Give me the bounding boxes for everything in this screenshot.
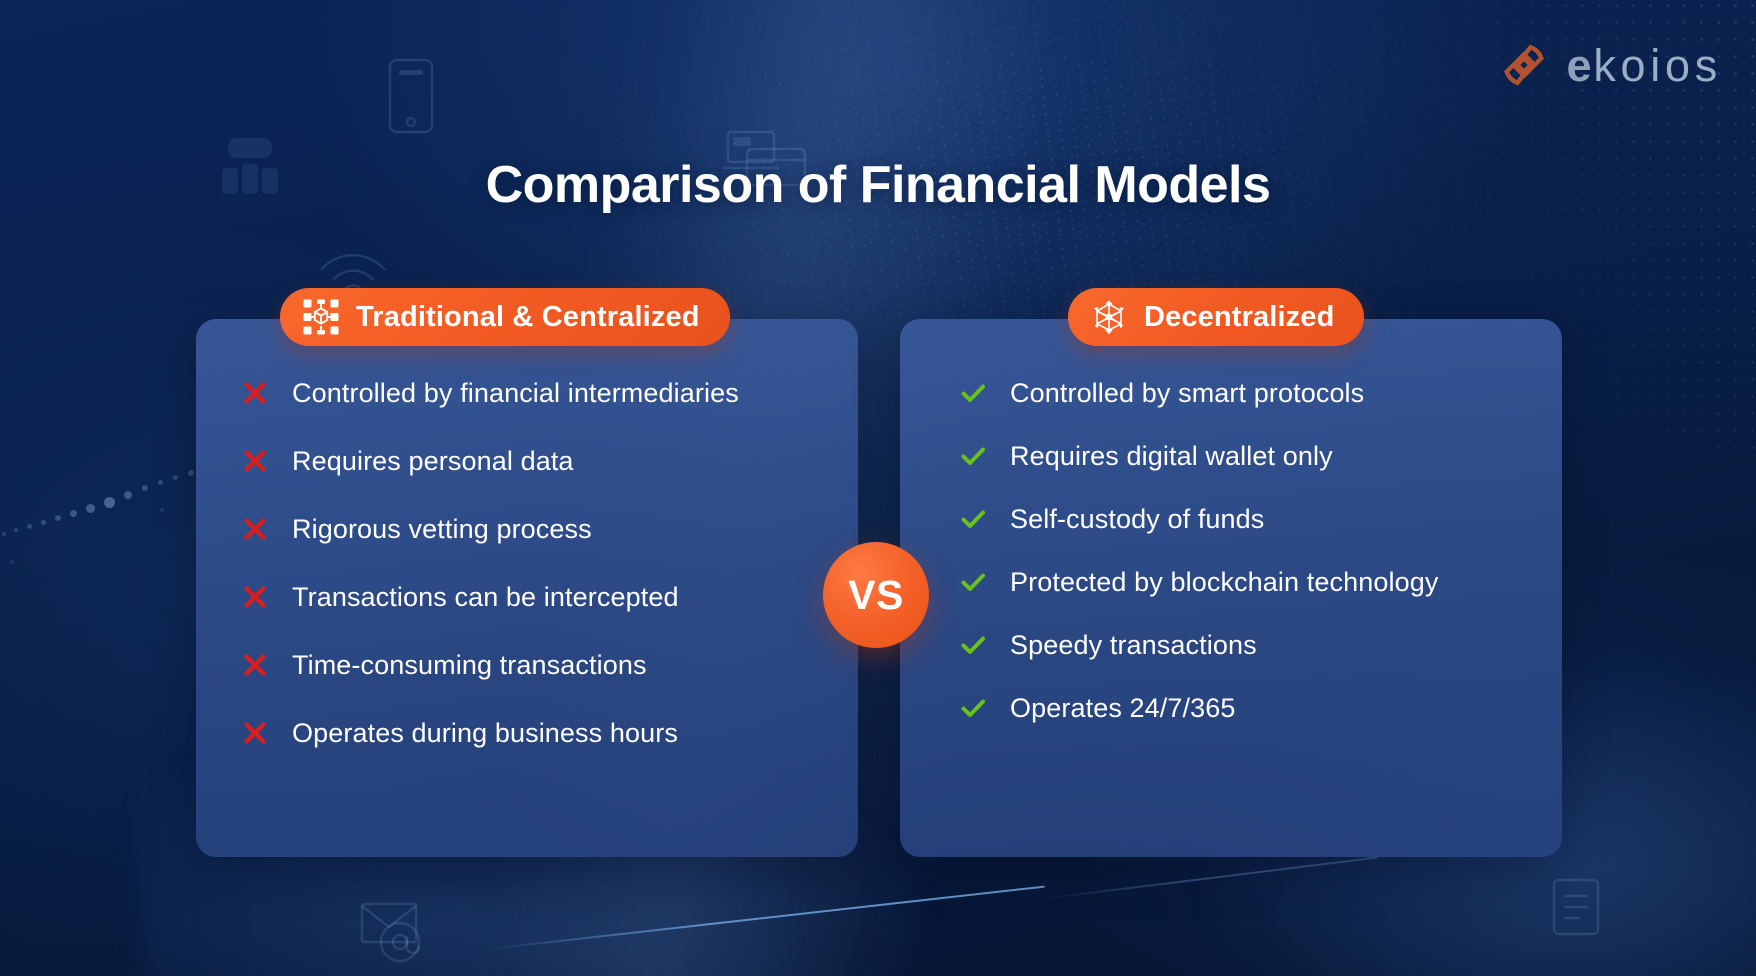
- cross-icon: [240, 718, 270, 748]
- smartphone-icon: [386, 56, 436, 136]
- list-decentralized: Controlled by smart protocols Requires d…: [958, 374, 1538, 727]
- vs-badge: VS: [823, 542, 929, 648]
- list-item: Transactions can be intercepted: [240, 578, 820, 616]
- cross-icon: [240, 446, 270, 476]
- centralized-network-icon: [302, 298, 340, 336]
- list-item-label: Rigorous vetting process: [292, 513, 592, 545]
- infographic-canvas: ekoios Comparison of Financial Models Co…: [0, 0, 1756, 976]
- list-item-label: Speedy transactions: [1010, 629, 1257, 661]
- list-item-label: Operates during business hours: [292, 717, 678, 749]
- brand-wordmark: ekoios: [1566, 43, 1722, 88]
- list-item: Requires digital wallet only: [958, 437, 1538, 475]
- brand-logo[interactable]: ekoios: [1498, 36, 1722, 94]
- badge-label: Decentralized: [1144, 301, 1334, 334]
- list-item-label: Operates 24/7/365: [1010, 692, 1236, 724]
- check-icon: [958, 378, 988, 408]
- list-item-label: Time-consuming transactions: [292, 649, 647, 681]
- badge-traditional-centralized[interactable]: Traditional & Centralized: [280, 288, 730, 346]
- list-item: Controlled by financial intermediaries: [240, 374, 820, 412]
- check-icon: [958, 441, 988, 471]
- decentralized-network-icon: [1090, 298, 1128, 336]
- list-item-label: Transactions can be intercepted: [292, 581, 679, 613]
- list-item: Protected by blockchain technology: [958, 563, 1538, 601]
- list-item-label: Self-custody of funds: [1010, 503, 1264, 535]
- list-item: Speedy transactions: [958, 626, 1538, 664]
- cross-icon: [240, 650, 270, 680]
- list-item: Time-consuming transactions: [240, 646, 820, 684]
- check-icon: [958, 567, 988, 597]
- list-item-label: Controlled by financial intermediaries: [292, 377, 739, 409]
- list-item: Rigorous vetting process: [240, 510, 820, 548]
- brand-name-rest: koios: [1593, 40, 1722, 91]
- badge-label: Traditional & Centralized: [356, 301, 700, 334]
- list-item-label: Requires personal data: [292, 445, 574, 477]
- list-item-label: Requires digital wallet only: [1010, 440, 1333, 472]
- list-item-label: Controlled by smart protocols: [1010, 377, 1364, 409]
- cross-icon: [240, 514, 270, 544]
- list-item: Operates during business hours: [240, 714, 820, 752]
- check-icon: [958, 693, 988, 723]
- check-icon: [958, 504, 988, 534]
- card-traditional-centralized: Controlled by financial intermediaries R…: [196, 319, 858, 857]
- list-item: Requires personal data: [240, 442, 820, 480]
- badge-decentralized[interactable]: Decentralized: [1068, 288, 1364, 346]
- diagonal-accent-line-secondary: [1040, 857, 1378, 900]
- check-icon: [958, 630, 988, 660]
- vs-label: VS: [848, 572, 904, 619]
- cross-icon: [240, 378, 270, 408]
- diagonal-accent-line-bottom: [488, 886, 1045, 950]
- envelope-at-icon: [358, 900, 434, 966]
- document-icon: [1548, 876, 1604, 938]
- brand-name-lead: e: [1566, 40, 1593, 91]
- list-traditional-centralized: Controlled by financial intermediaries R…: [240, 374, 820, 752]
- card-decentralized: Controlled by smart protocols Requires d…: [900, 319, 1562, 857]
- list-item: Operates 24/7/365: [958, 689, 1538, 727]
- list-item: Controlled by smart protocols: [958, 374, 1538, 412]
- list-item-label: Protected by blockchain technology: [1010, 566, 1438, 598]
- cross-icon: [240, 582, 270, 612]
- ekoios-mark-icon: [1498, 39, 1550, 91]
- page-title: Comparison of Financial Models: [0, 155, 1756, 215]
- list-item: Self-custody of funds: [958, 500, 1538, 538]
